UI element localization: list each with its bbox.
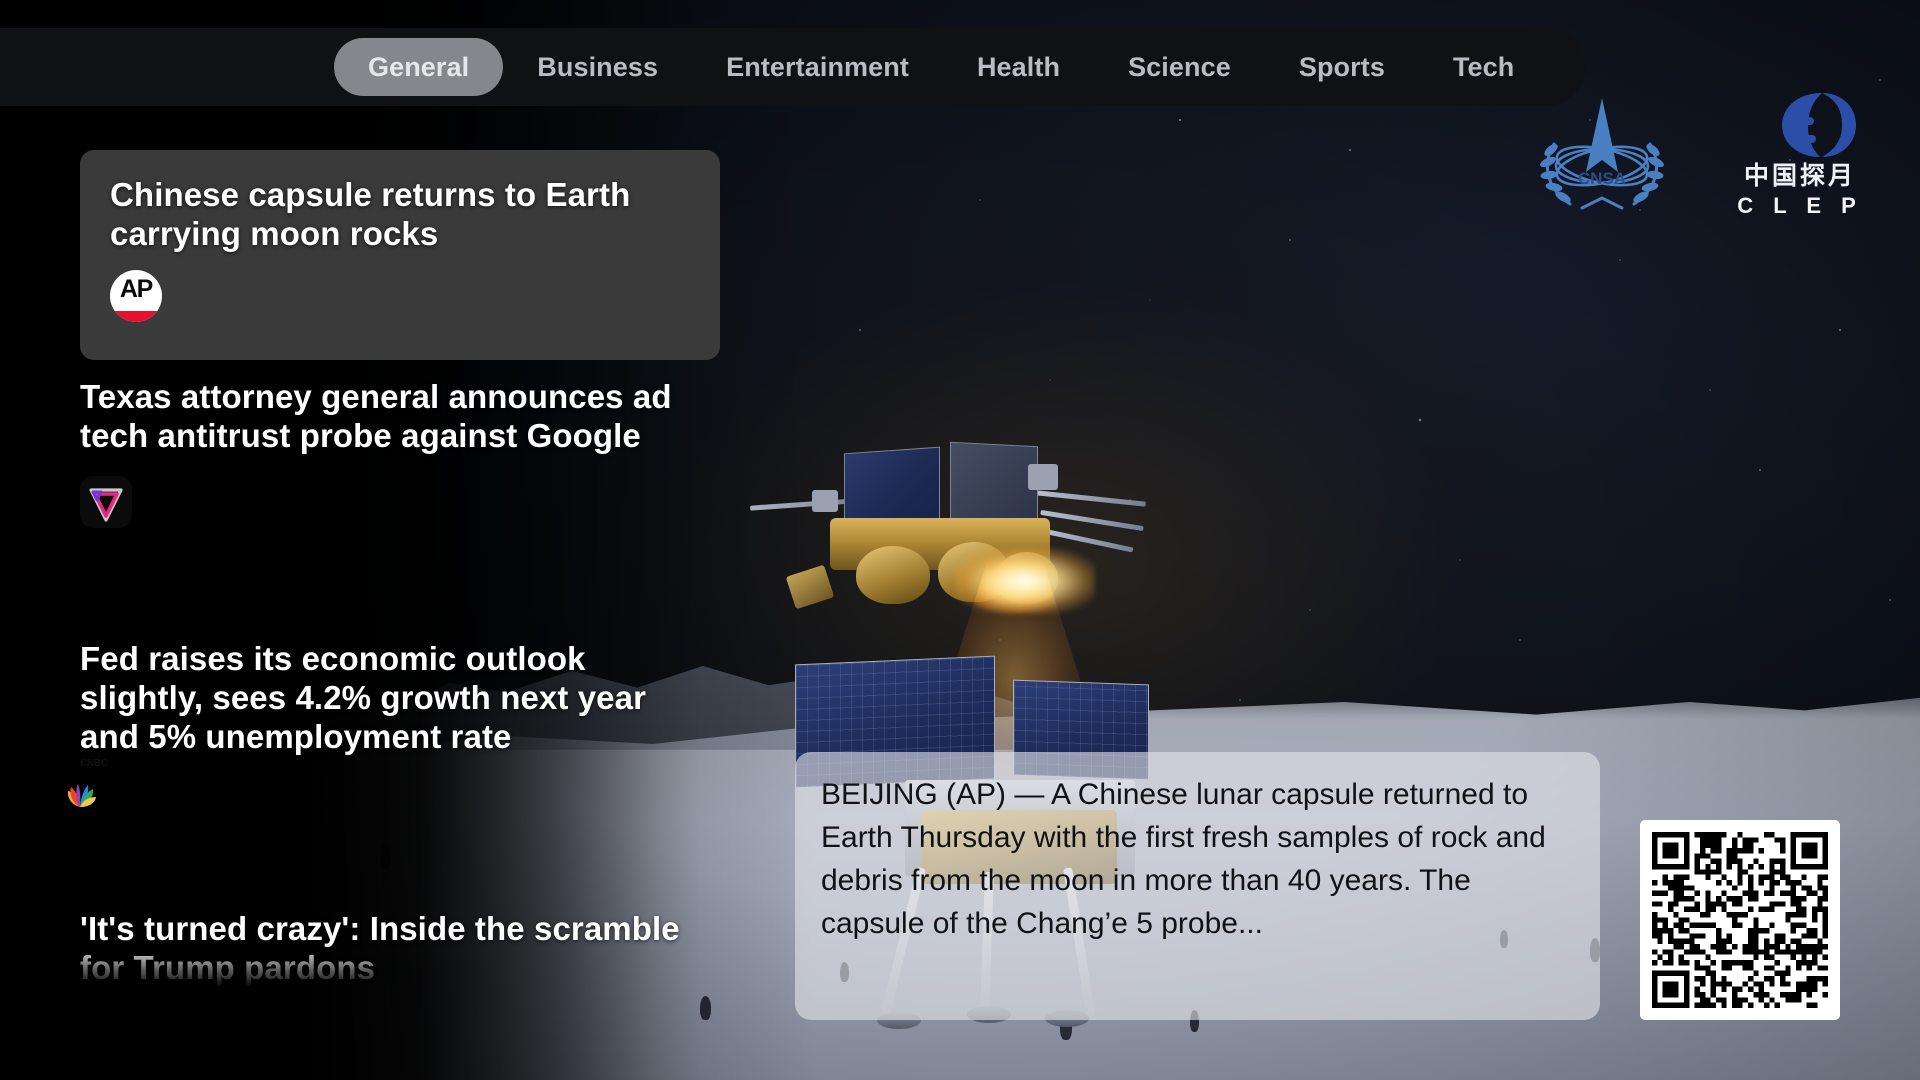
clep-emblem-icon: 中国探月 C L E P — [1726, 87, 1874, 215]
tab-entertainment[interactable]: Entertainment — [692, 38, 943, 96]
tab-general[interactable]: General — [334, 38, 503, 96]
tab-tech[interactable]: Tech — [1419, 38, 1548, 96]
clep-chinese-label: 中国探月 — [1726, 163, 1874, 188]
tab-business[interactable]: Business — [503, 38, 692, 96]
headline-item-selected[interactable]: Chinese capsule returns to Earth carryin… — [80, 150, 720, 360]
article-summary-panel: BEIJING (AP) — A Chinese lunar capsule r… — [795, 752, 1600, 1020]
headline-item[interactable]: Texas attorney general announces ad tech… — [80, 378, 720, 528]
article-qr-code[interactable] — [1640, 820, 1840, 1020]
headline-title: Chinese capsule returns to Earth carryin… — [110, 176, 690, 254]
headline-item[interactable]: Fed raises its economic outlook slightly… — [80, 640, 720, 829]
tab-sports[interactable]: Sports — [1265, 38, 1419, 96]
news-kiosk-screen: GeneralBusinessEntertainmentHealthScienc… — [0, 0, 1920, 1080]
headline-list: Chinese capsule returns to Earth carryin… — [0, 150, 760, 1050]
cnsa-emblem-icon: CNSA — [1534, 86, 1670, 216]
ap-logo-bar — [110, 311, 162, 322]
headline-title: Texas attorney general announces ad tech… — [80, 378, 680, 456]
qr-code-image — [1652, 832, 1828, 1008]
article-summary-text: BEIJING (AP) — A Chinese lunar capsule r… — [821, 774, 1574, 946]
headline-item[interactable]: 'It's turned crazy': Inside the scramble… — [80, 910, 720, 988]
clep-english-label: C L E P — [1726, 195, 1874, 217]
mission-logos: CNSA 中国探月 C L E P — [1534, 86, 1874, 216]
headline-title: 'It's turned crazy': Inside the scramble… — [80, 910, 680, 988]
tab-health[interactable]: Health — [943, 38, 1094, 96]
cnsa-label: CNSA — [1578, 169, 1626, 188]
ap-logo-text: AP — [110, 277, 162, 302]
headline-title: Fed raises its economic outlook slightly… — [80, 640, 700, 757]
verge-logo-icon — [80, 476, 132, 528]
tab-science[interactable]: Science — [1094, 38, 1265, 96]
cnbc-logo-icon: CNBC — [80, 777, 132, 829]
category-nav-bar: GeneralBusinessEntertainmentHealthScienc… — [0, 28, 1585, 106]
ap-logo-icon: AP — [110, 270, 162, 322]
